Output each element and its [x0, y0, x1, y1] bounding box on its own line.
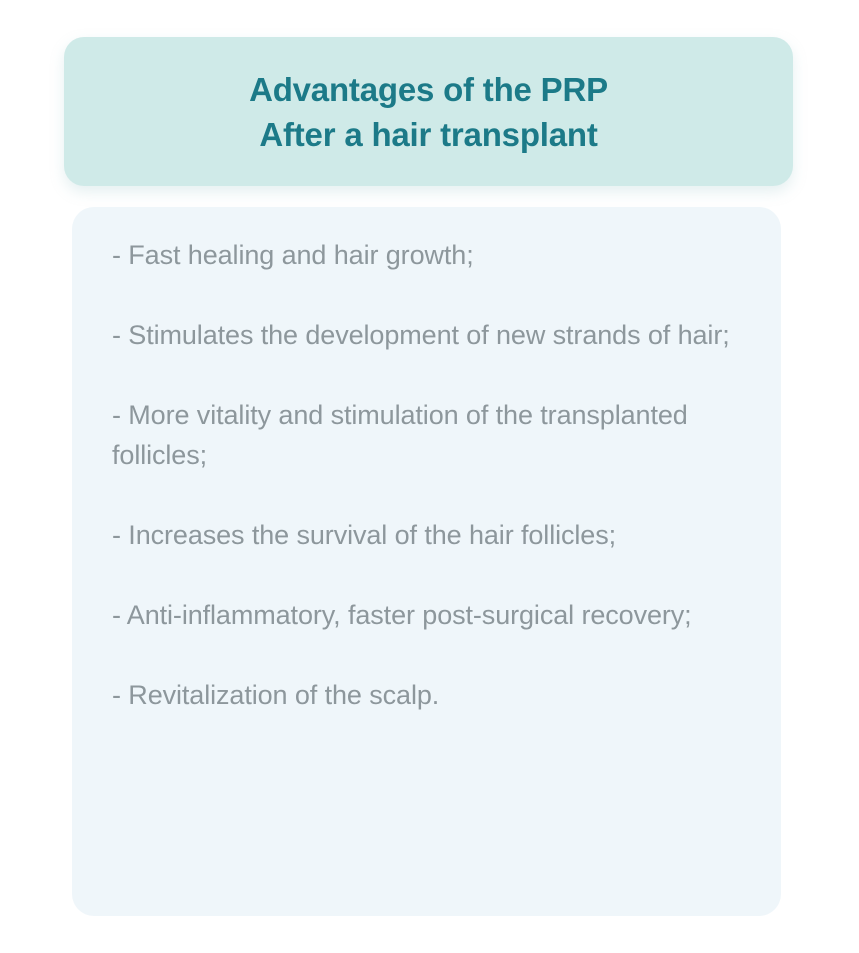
advantages-list: - Fast healing and hair growth; - Stimul… — [112, 235, 741, 715]
advantages-panel: - Fast healing and hair growth; - Stimul… — [72, 207, 781, 916]
list-item: - Revitalization of the scalp. — [112, 675, 741, 715]
list-item: - Anti-inflammatory, faster post-surgica… — [112, 595, 741, 635]
page-title-line-1: Advantages of the PRP — [249, 67, 608, 112]
page-title-line-2: After a hair transplant — [259, 112, 597, 157]
header-card: Advantages of the PRP After a hair trans… — [64, 37, 793, 186]
list-item: - Increases the survival of the hair fol… — [112, 515, 741, 555]
list-item: - Stimulates the development of new stra… — [112, 315, 741, 355]
list-item: - Fast healing and hair growth; — [112, 235, 741, 275]
infographic-card: Advantages of the PRP After a hair trans… — [0, 0, 859, 953]
list-item: - More vitality and stimulation of the t… — [112, 395, 741, 475]
